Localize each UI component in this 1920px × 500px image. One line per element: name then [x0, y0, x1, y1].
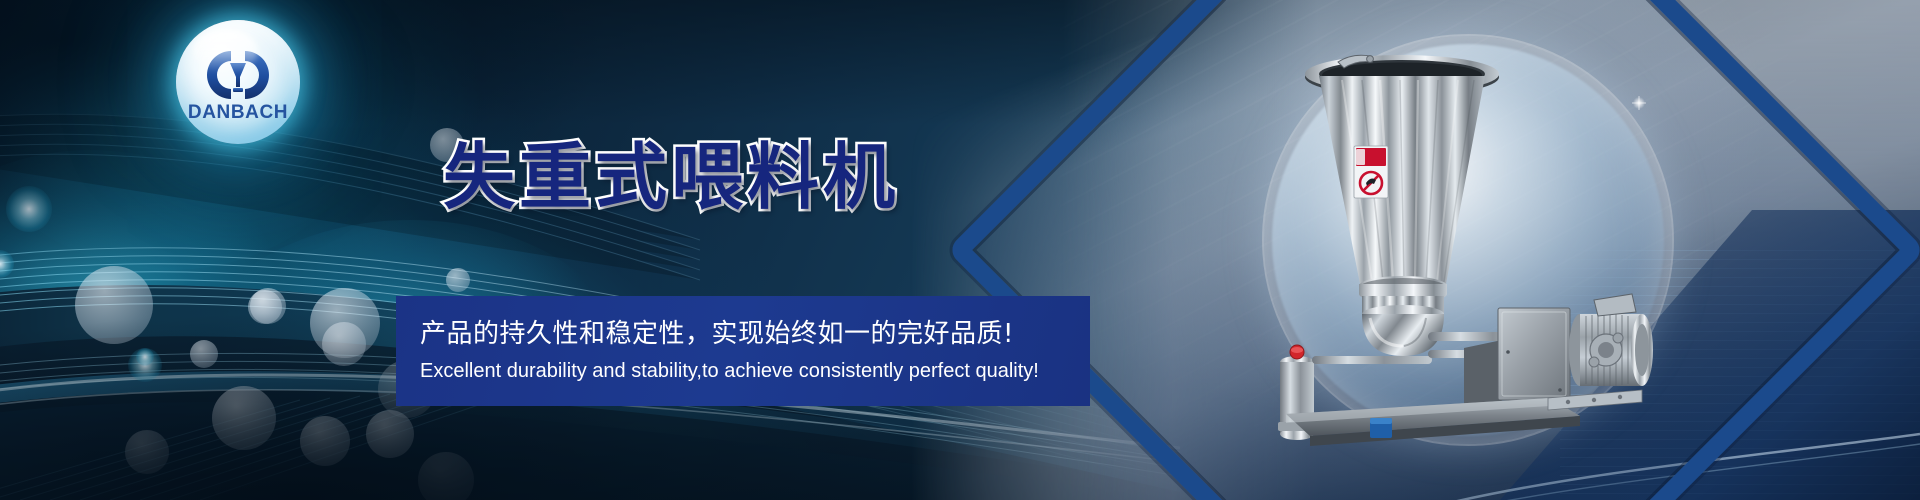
brand-logo-bubble[interactable]: DANBACH — [176, 20, 300, 144]
tagline-english: Excellent durability and stability,to ac… — [420, 360, 1090, 382]
product-banner: DANBACH 失重式喂料机 产品的持久性和稳定性，实现始终如一的完好品质! E… — [0, 0, 1920, 500]
hazard-warning-label — [1354, 146, 1388, 198]
page-title: 失重式喂料机 — [443, 118, 899, 223]
product-image-feeder — [1250, 50, 1680, 450]
danbach-funnel-logo-icon — [207, 48, 269, 102]
gear-motor — [1569, 294, 1653, 386]
tagline-box: 产品的持久性和稳定性，实现始终如一的完好品质! Excellent durabi… — [396, 296, 1090, 406]
brand-wordmark: DANBACH — [188, 103, 288, 122]
tagline-chinese: 产品的持久性和稳定性，实现始终如一的完好品质! — [420, 320, 1090, 349]
